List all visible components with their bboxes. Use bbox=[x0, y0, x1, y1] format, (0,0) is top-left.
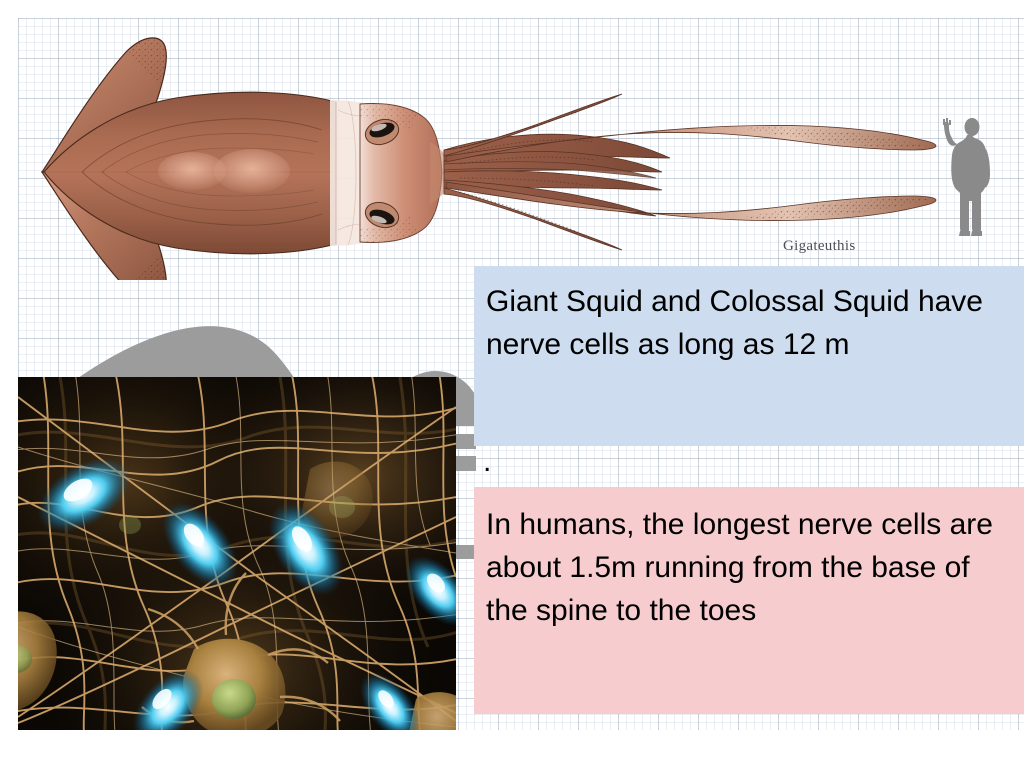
gray-silhouette-bar bbox=[456, 545, 476, 559]
slide-canvas: Gigateuthis bbox=[0, 0, 1024, 768]
callout-squid-nerve-fact: Giant Squid and Colossal Squid have nerv… bbox=[474, 266, 1024, 446]
human-scale-silhouette bbox=[938, 115, 1000, 237]
gray-silhouette-bar bbox=[456, 434, 476, 449]
species-label-gigateuthis: Gigateuthis bbox=[783, 238, 855, 255]
callout-human-nerve-text: In humans, the longest nerve cells are a… bbox=[486, 503, 1008, 632]
neuron-network-photo bbox=[18, 377, 456, 730]
gray-silhouette-bar bbox=[456, 456, 476, 471]
callout-human-nerve-fact: In humans, the longest nerve cells are a… bbox=[474, 487, 1024, 714]
callout-squid-nerve-text: Giant Squid and Colossal Squid have nerv… bbox=[486, 280, 1008, 366]
stray-period-text: . bbox=[483, 447, 491, 477]
gray-silhouette-bar bbox=[456, 408, 476, 426]
